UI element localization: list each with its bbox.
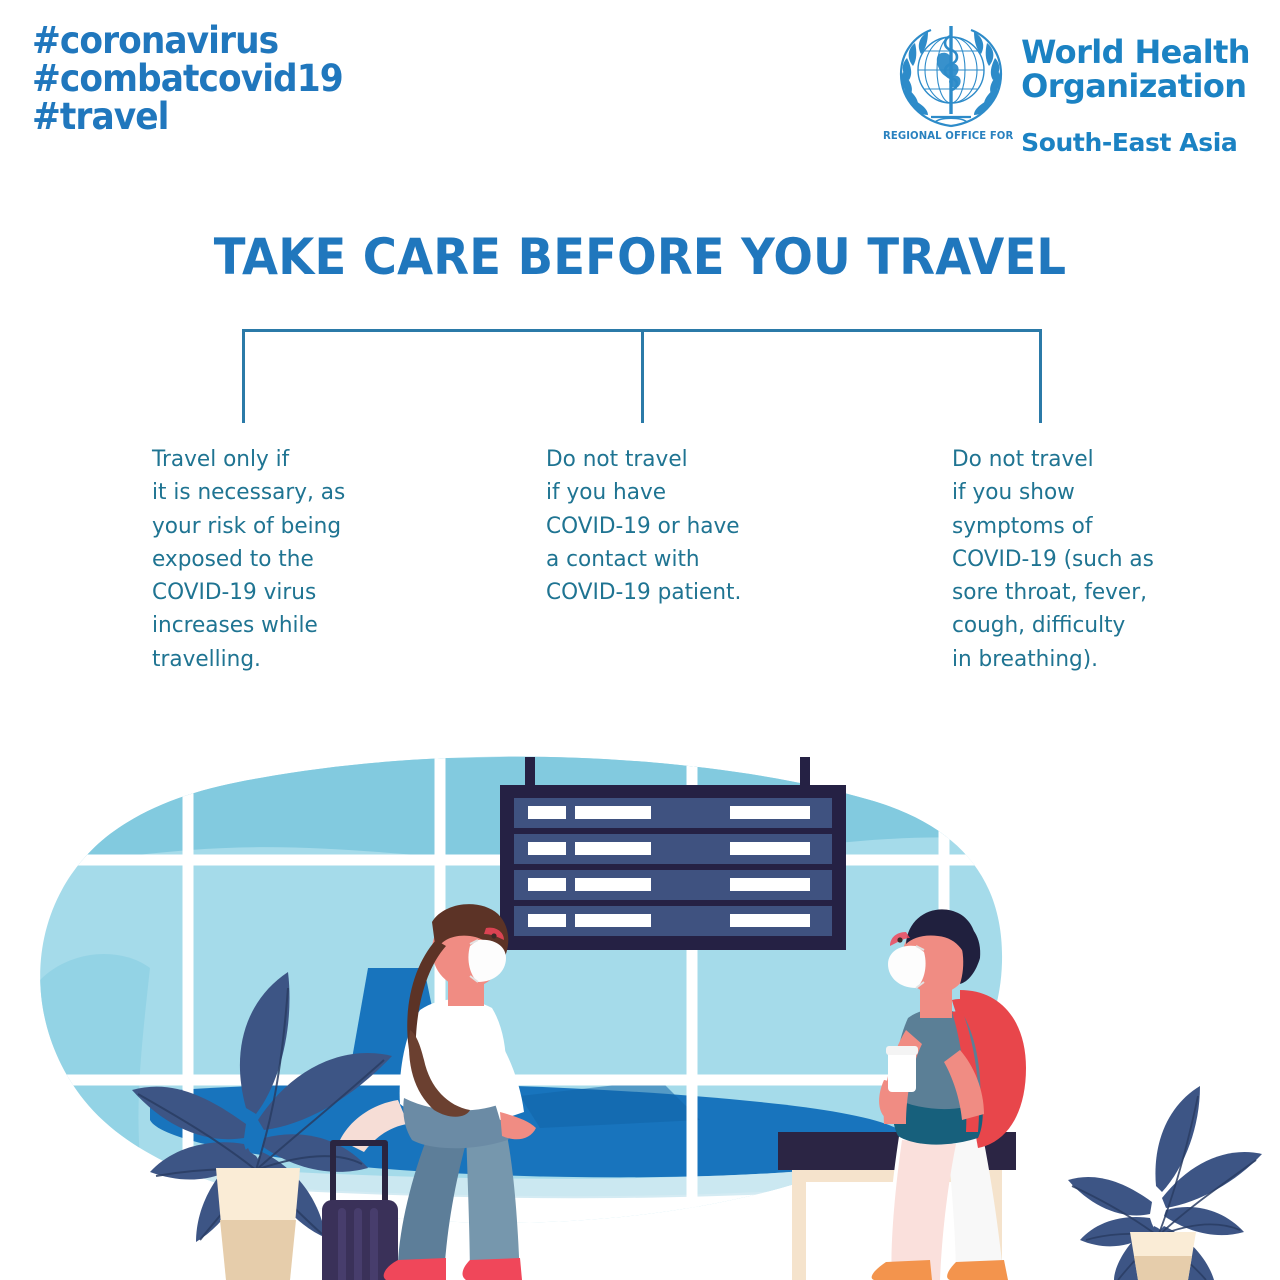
potted-plant-right <box>1068 1086 1262 1280</box>
who-wordmark: World Health Organization South-East Asi… <box>1021 18 1250 157</box>
bracket-stem-1 <box>242 329 245 423</box>
hashtag-coronavirus: #coronavirus <box>32 22 343 60</box>
bracket-stem-2 <box>641 329 644 423</box>
advice-columns: Travel only if it is necessary, as your … <box>0 443 1280 703</box>
advice-column-3: Do not travel if you show symptoms of CO… <box>952 443 1202 676</box>
page-title: TAKE CARE BEFORE YOU TRAVEL <box>45 228 1235 286</box>
advice-column-2: Do not travel if you have COVID-19 or ha… <box>546 443 786 609</box>
who-logo: REGIONAL OFFICE FOR World Health Organiz… <box>891 18 1250 158</box>
who-line-1: World Health <box>1021 36 1250 70</box>
who-emblem-wrap: REGIONAL OFFICE FOR <box>891 18 1011 158</box>
header: #coronavirus #combatcovid19 #travel <box>0 0 1280 200</box>
bracket-connector <box>0 320 1280 430</box>
who-regional-label: REGIONAL OFFICE FOR <box>883 130 1013 142</box>
who-emblem-icon <box>891 18 1011 138</box>
hashtag-block: #coronavirus #combatcovid19 #travel <box>32 22 343 136</box>
who-region-name: South-East Asia <box>1021 128 1250 157</box>
hashtag-travel: #travel <box>32 98 343 136</box>
hashtag-combatcovid19: #combatcovid19 <box>32 60 343 98</box>
bracket-stem-3 <box>1039 329 1042 423</box>
traveller-man-with-backpack <box>872 909 1026 1280</box>
departure-board <box>500 757 846 950</box>
advice-column-1: Travel only if it is necessary, as your … <box>152 443 392 676</box>
airport-scene-svg <box>0 700 1280 1280</box>
who-line-2: Organization <box>1021 70 1250 104</box>
airport-terminal-illustration <box>0 700 1280 1280</box>
